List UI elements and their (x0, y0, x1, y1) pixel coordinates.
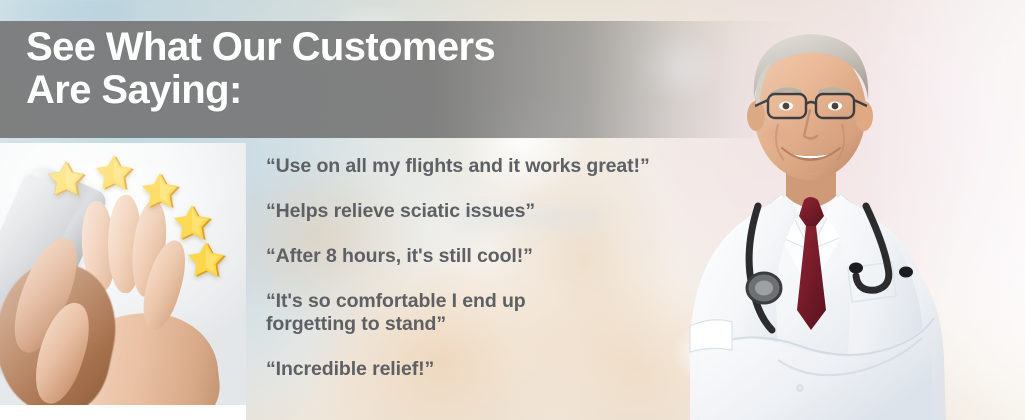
hand-left-palm (0, 252, 128, 405)
testimonial-quote: “Use on all my flights and it works grea… (266, 155, 696, 178)
thumb-left (1, 231, 89, 359)
photo-bottom-edge (0, 405, 246, 420)
finger-middle (80, 200, 117, 292)
smartphone-body (0, 164, 109, 378)
testimonial-quote: “Incredible relief!” (266, 358, 696, 381)
doctor-cuff (690, 320, 732, 352)
smartphone-screen (0, 172, 81, 366)
testimonial-banner: See What Our Customers Are Saying: “Use … (0, 0, 1025, 420)
stethoscope-earpiece-2 (899, 267, 913, 278)
rating-star-icon (48, 159, 88, 199)
finger-ring (107, 195, 142, 294)
rating-star-icon (142, 171, 182, 211)
rating-star-icon (96, 153, 136, 193)
testimonial-quote: “Helps relieve sciatic issues” (266, 200, 696, 223)
testimonial-quote: “After 8 hours, it's still cool!” (266, 245, 696, 268)
page-title: See What Our Customers Are Saying: (26, 26, 495, 112)
stethoscope-earpiece (849, 263, 863, 274)
testimonial-list: “Use on all my flights and it works grea… (266, 155, 696, 381)
finger-index-left (25, 297, 99, 405)
rating-star-icon (188, 240, 228, 280)
rating-star-icon (174, 203, 214, 243)
phone-rating-photo (0, 143, 246, 405)
hand-right-palm (72, 306, 224, 405)
coat-button (797, 385, 803, 391)
thumb-right (135, 236, 193, 334)
finger-little (128, 200, 170, 299)
testimonial-quote: “It's so comfortable I end up forgetting… (266, 290, 696, 336)
